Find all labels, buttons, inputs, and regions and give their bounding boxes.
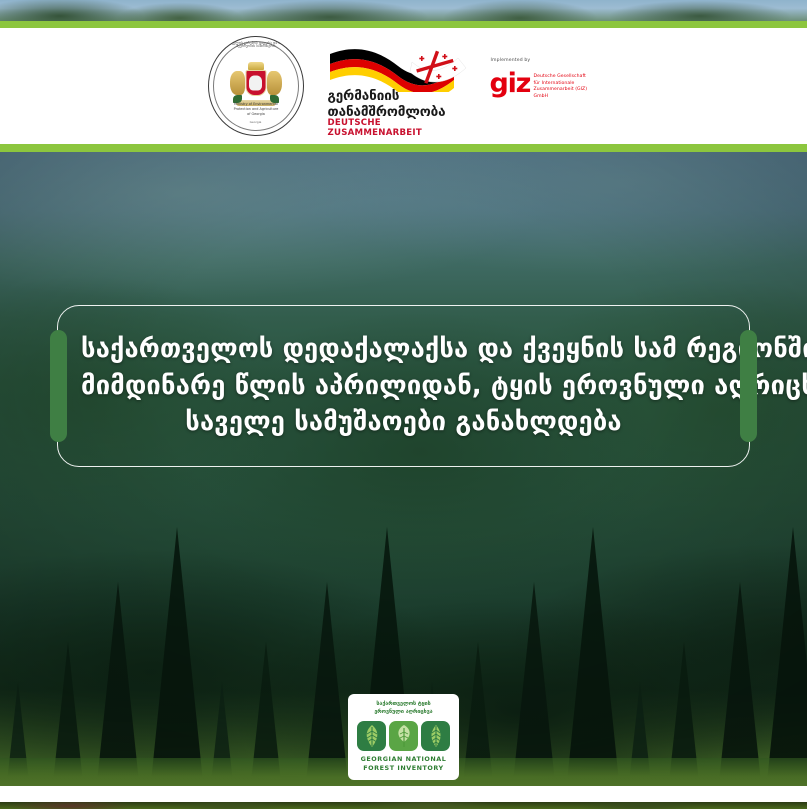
headline-line-2: მიმდინარე წლის აპრილიდან, ტყის ეროვნული … (81, 368, 726, 405)
gnfi-ka-line1: საქართველოს ტყის (353, 701, 454, 709)
gnfi-en-line1: GEORGIAN NATIONAL (353, 755, 454, 765)
georgian-national-forest-inventory-logo: საქართველოს ტყის ეროვნული აღრიცხვა (348, 694, 459, 780)
broadleaf-icon (362, 724, 382, 748)
giz-wordmark: giz (490, 70, 531, 97)
left-accent-pill (50, 330, 67, 442)
ministry-seal-arc-text: საქართველოს გარემოს დაცვისა და სოფლის მე… (212, 42, 298, 49)
giz-full-name-text: Deutsche Gesellschaft für Internationale… (534, 74, 600, 101)
right-accent-pill (740, 330, 757, 442)
tree-icon (394, 724, 414, 748)
headline-text: საქართველოს დედაქალაქსა და ქვეყნის სამ რ… (81, 331, 726, 441)
bottom-white-band (0, 786, 807, 802)
gnfi-leaf-icons (353, 721, 454, 751)
ministry-seal-footer-text: Georgia (209, 120, 303, 124)
georgia-coat-of-arms-icon (230, 62, 282, 106)
ministry-seal-english-text: Ministry of Environmental Protection and… (211, 102, 300, 117)
bottom-photo-strip (0, 802, 807, 809)
ministry-of-environment-seal-logo: საქართველოს გარემოს დაცვისა და სოფლის მე… (208, 36, 304, 136)
german-cooperation-georgian-text: გერმანიის თანამშრომლობა (328, 89, 446, 121)
gnfi-ka-line2: ეროვნული აღრიცხვა (353, 709, 454, 717)
poster-root: საქართველოს გარემოს დაცვისა და სოფლის მე… (0, 0, 807, 809)
gnfi-english-text: GEORGIAN NATIONAL FOREST INVENTORY (353, 755, 454, 774)
partner-logo-bar: საქართველოს გარემოს დაცვისა და სოფლის მე… (0, 28, 807, 144)
giz-name-line3: Zusammenarbeit (GIZ) GmbH (534, 87, 600, 100)
german-cooperation-german-text: DEUTSCHE ZUSAMMENARBEIT (328, 118, 468, 138)
leaf-icon-3 (421, 721, 450, 751)
german-cooperation-ka-line1: გერმანიის (328, 88, 400, 104)
top-green-divider (0, 21, 807, 28)
giz-logo: Implemented by giz Deutsche Gesellschaft… (490, 58, 600, 110)
headline-card: საქართველოს დედაქალაქსა და ქვეყნის სამ რ… (57, 305, 750, 467)
german-cooperation-logo: გერმანიის თანამშრომლობა DEUTSCHE ZUSAMME… (326, 42, 468, 130)
conifer-needle-icon (426, 724, 446, 748)
headline-line-1: საქართველოს დედაქალაქსა და ქვეყნის სამ რ… (81, 331, 726, 368)
headline-line-3: საველე სამუშაოები განახლდება (81, 404, 726, 441)
gnfi-georgian-text: საქართველოს ტყის ეროვნული აღრიცხვა (353, 701, 454, 717)
gnfi-en-line2: FOREST INVENTORY (353, 764, 454, 774)
leaf-icon-1 (357, 721, 386, 751)
giz-name-line1: Deutsche Gesellschaft (534, 74, 600, 81)
leaf-icon-2 (389, 721, 418, 751)
top-photo-strip (0, 0, 807, 21)
giz-implemented-by-label: Implemented by (491, 58, 531, 63)
german-georgian-flag-wave-icon (326, 44, 468, 92)
logo-bar-green-divider (0, 144, 807, 152)
